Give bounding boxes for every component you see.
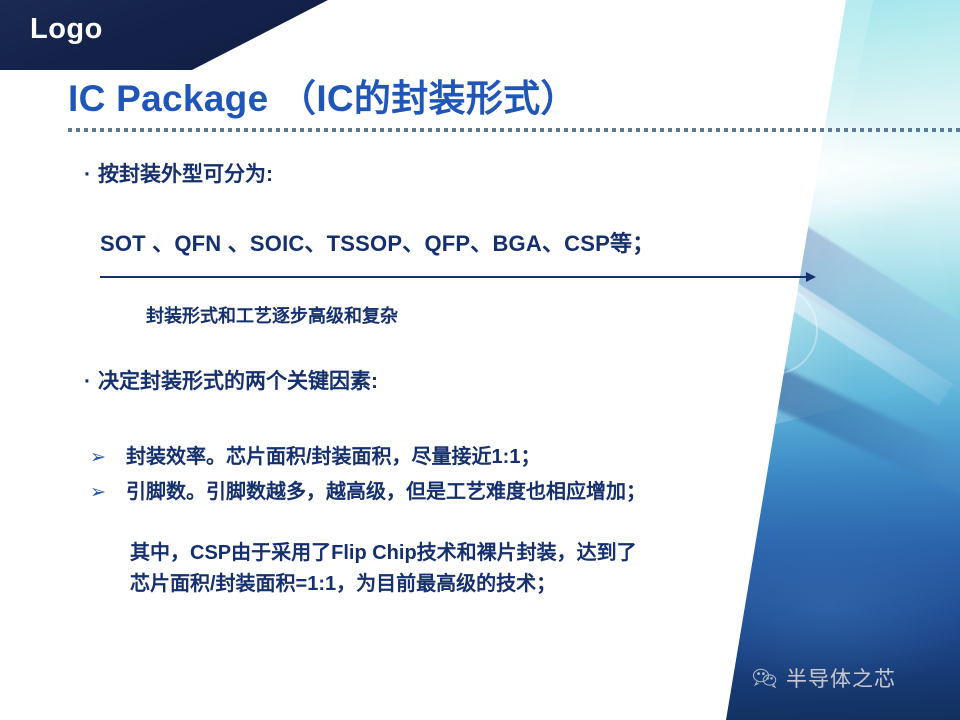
closing-paragraph-line-2: 芯片面积/封装面积=1:1，为目前最高级的技术； — [130, 569, 830, 600]
page-title: IC Package （IC的封装形式） — [68, 68, 578, 122]
closing-paragraph-line-1: 其中，CSP由于采用了Flip Chip技术和裸片封装，达到了 — [130, 538, 830, 569]
watermark: 半导体之芯 — [752, 663, 896, 693]
progression-arrow-icon — [100, 276, 807, 278]
watermark-label: 半导体之芯 — [786, 663, 896, 693]
bullet-dot-icon: · — [84, 370, 98, 394]
slide: Logo IC Package （IC的封装形式） ·按封装外型可分为: SOT… — [0, 0, 960, 720]
bullet-item-1-label: 按封装外型可分为: — [98, 163, 273, 186]
sub-item-2-label: 引脚数。引脚数越多，越高级，但是工艺难度也相应增加； — [126, 481, 646, 503]
bullet-item-1: ·按封装外型可分为: — [84, 158, 273, 188]
bullet-item-2: ·决定封装形式的两个关键因素: — [84, 365, 378, 395]
arrow-bullet-icon: ➢ — [90, 446, 126, 469]
artwork-circular-logo-icon — [728, 285, 818, 375]
bullet-dot-icon: · — [84, 163, 98, 187]
package-types-line: SOT 、QFN 、SOIC、TSSOP、QFP、BGA、CSP等； — [100, 226, 654, 258]
wechat-icon — [752, 667, 778, 689]
sub-item-1-label: 封装效率。芯片面积/封装面积，尽量接近1:1； — [126, 446, 540, 468]
title-divider — [68, 128, 960, 132]
closing-paragraph: 其中，CSP由于采用了Flip Chip技术和裸片封装，达到了 芯片面积/封装面… — [130, 538, 830, 600]
sub-item-1: ➢封装效率。芯片面积/封装面积，尽量接近1:1； — [90, 440, 540, 469]
logo-text: Logo — [30, 13, 103, 46]
bullet-item-2-label: 决定封装形式的两个关键因素: — [98, 370, 378, 393]
decorative-artwork — [660, 0, 960, 720]
sub-item-2: ➢引脚数。引脚数越多，越高级，但是工艺难度也相应增加； — [90, 475, 646, 504]
arrow-bullet-icon: ➢ — [90, 481, 126, 504]
arrow-caption: 封装形式和工艺逐步高级和复杂 — [146, 302, 398, 328]
